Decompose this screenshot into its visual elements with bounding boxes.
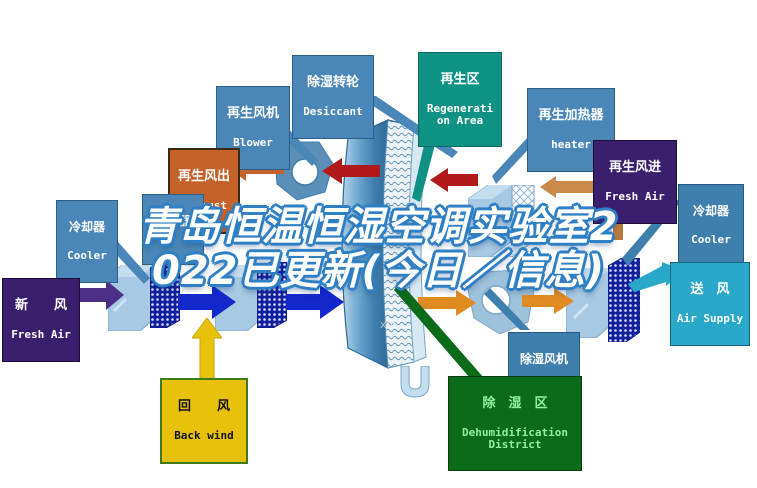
label-regeneration-blower-cn: 再生风机 [219,107,287,121]
label-back-wind-cn: 回 风 [164,400,244,414]
label-dehumidification-blower-cn: 除湿风机 [511,353,577,366]
label-air-supply-cn: 送 风 [673,283,747,297]
label-regeneration-area: 再生区 Regenerati on Area [418,52,502,147]
label-dehumidification-district-en: Dehumidification District [451,427,579,450]
label-regeneration-heater-cn: 再生加热器 [530,109,612,123]
label-desiccant-wheel-en: Desiccant [295,106,371,118]
label-air-supply-en: Air Supply [673,313,747,325]
label-cooler-left-cn: 冷却器 [59,221,115,234]
label-exhaust-cn: 再生风出 [172,170,236,184]
label-cooler-right-en: Cooler [681,234,741,246]
diagram-canvas: xfc 除湿转轮 Desiccant 再生风机 Blower 再生区 Regen… [0,0,757,488]
label-regeneration-area-en: Regenerati on Area [421,103,499,126]
label-dehumidification-district-cn: 除 湿 区 [451,397,579,411]
label-back-wind-en: Back wind [164,430,244,442]
label-regeneration-fresh-air-in-cn: 再生风进 [596,161,674,175]
label-fresh-air-in-cn: 新 风 [5,299,77,313]
label-regeneration-fresh-air-in: 再生风进 Fresh Air [593,140,677,224]
label-cooler-mid-cn: 冷却器 [145,215,201,228]
label-desiccant-wheel-cn: 除湿转轮 [295,76,371,90]
label-fresh-air-in: 新 风 Fresh Air [2,278,80,362]
label-dehumidification-district: 除 湿 区 Dehumidification District [448,376,582,471]
label-cooler-right-cn: 冷却器 [681,205,741,218]
label-back-wind: 回 风 Back wind [160,378,248,464]
label-fresh-air-in-en: Fresh Air [5,329,77,341]
label-air-supply: 送 风 Air Supply [670,262,750,346]
label-cooler-left: 冷却器 Cooler [56,200,118,283]
label-regeneration-fresh-air-in-en: Fresh Air [596,191,674,203]
label-desiccant-wheel: 除湿转轮 Desiccant [292,55,374,139]
label-cooler-mid: 冷却器 [142,194,204,265]
label-cooler-right: 冷却器 Cooler [678,184,744,267]
label-cooler-left-en: Cooler [59,250,115,262]
label-regeneration-area-cn: 再生区 [421,73,499,87]
